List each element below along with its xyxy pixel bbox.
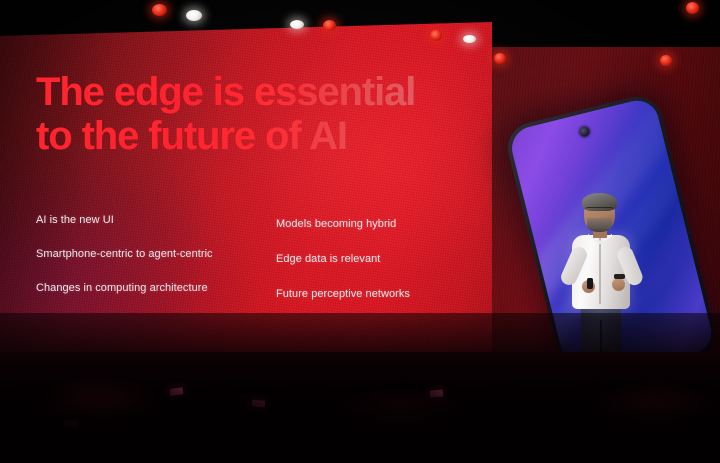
wristwatch-icon <box>614 274 625 279</box>
led-pixel-grid-texture <box>0 22 492 352</box>
presenter-hand-right <box>612 278 625 291</box>
light-red-6-icon <box>686 2 699 14</box>
light-white-2-icon <box>290 20 304 29</box>
presenter-leg-split <box>600 320 602 352</box>
slide-headline: The edge is essential to the future of A… <box>36 70 466 158</box>
headline-line-1: The edge is essential <box>36 70 415 114</box>
headline-line-2: to the future of AI <box>36 114 466 158</box>
light-white-1-icon <box>186 10 202 21</box>
bullet-item: Changes in computing architecture <box>36 282 276 295</box>
slide-bullet-columns: AI is the new UI Smartphone-centric to a… <box>36 214 466 323</box>
screen-hotspot <box>0 22 492 352</box>
bullet-column-left: AI is the new UI Smartphone-centric to a… <box>36 214 276 323</box>
bullet-item: Future perceptive networks <box>276 288 466 301</box>
light-red-5-icon <box>660 55 672 66</box>
light-red-2-icon <box>323 20 336 31</box>
bullet-item: Smartphone-centric to agent-centric <box>36 248 276 261</box>
bullet-item: Edge data is relevant <box>276 253 466 266</box>
light-white-3-icon <box>463 35 476 43</box>
light-red-3-icon <box>430 30 442 41</box>
presenter-beard <box>587 218 612 232</box>
stage-floor-glow <box>0 352 720 463</box>
presentation-slide: The edge is essential to the future of A… <box>0 22 492 352</box>
phone-front-camera <box>578 126 590 138</box>
presenter-shirt-placket <box>599 238 601 304</box>
keynote-stage-photo: The edge is essential to the future of A… <box>0 0 720 463</box>
light-red-4-icon <box>494 53 506 64</box>
presenter-shirt <box>572 235 630 309</box>
bullet-item: AI is the new UI <box>36 214 276 227</box>
presentation-clicker <box>587 278 593 289</box>
bullet-item: Models becoming hybrid <box>276 218 466 231</box>
main-led-screen: The edge is essential to the future of A… <box>0 22 492 352</box>
light-red-1-icon <box>152 4 167 16</box>
glasses-icon <box>585 207 614 215</box>
screen-vignette <box>0 22 492 352</box>
bullet-column-right: Models becoming hybrid Edge data is rele… <box>276 214 466 323</box>
presenter-figure <box>556 196 648 346</box>
